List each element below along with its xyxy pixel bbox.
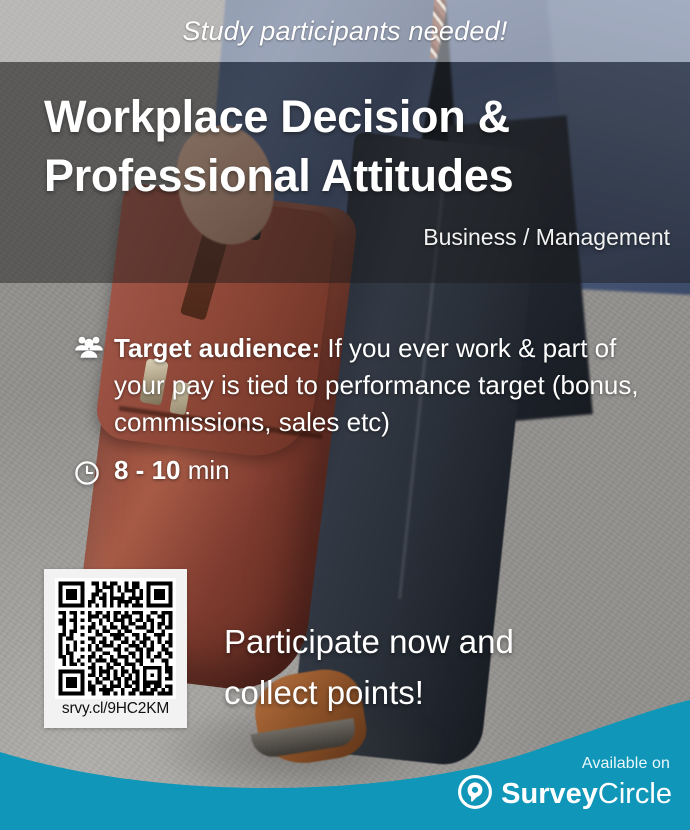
target-audience-row: Target audience: If you ever work & part… xyxy=(74,330,674,441)
qr-code-icon[interactable] xyxy=(55,578,176,699)
duration-row: 8 - 10 min xyxy=(74,455,674,486)
duration-unit: min xyxy=(188,455,230,485)
title-line-1: Workplace Decision & xyxy=(44,91,510,142)
clock-icon xyxy=(74,455,114,486)
page-title: Workplace Decision & Professional Attitu… xyxy=(44,88,654,205)
brand-name-light: Circle xyxy=(598,778,672,810)
duration-value: 8 - 10 xyxy=(114,455,181,485)
title-line-2: Professional Attitudes xyxy=(44,147,654,206)
brand-row: SurveyCircle xyxy=(458,775,672,814)
category-label: Business / Management xyxy=(423,224,670,251)
people-group-icon xyxy=(74,330,114,359)
brand-name-bold: Survey xyxy=(501,778,598,810)
brand-name: SurveyCircle xyxy=(501,780,672,809)
target-audience-label: Target audience: xyxy=(114,333,320,363)
kicker-text: Study participants needed! xyxy=(0,16,690,47)
duration-text: 8 - 10 min xyxy=(114,455,230,486)
target-audience-text: Target audience: If you ever work & part… xyxy=(114,330,674,441)
cta-line-1: Participate now and xyxy=(224,616,654,667)
brand-block[interactable]: Available on SurveyCircle xyxy=(458,755,672,814)
surveycircle-pin-icon xyxy=(458,775,492,814)
survey-poster: Study participants needed! Workplace Dec… xyxy=(0,0,690,830)
study-info-block: Target audience: If you ever work & part… xyxy=(74,330,674,496)
available-on-label: Available on xyxy=(458,755,670,773)
